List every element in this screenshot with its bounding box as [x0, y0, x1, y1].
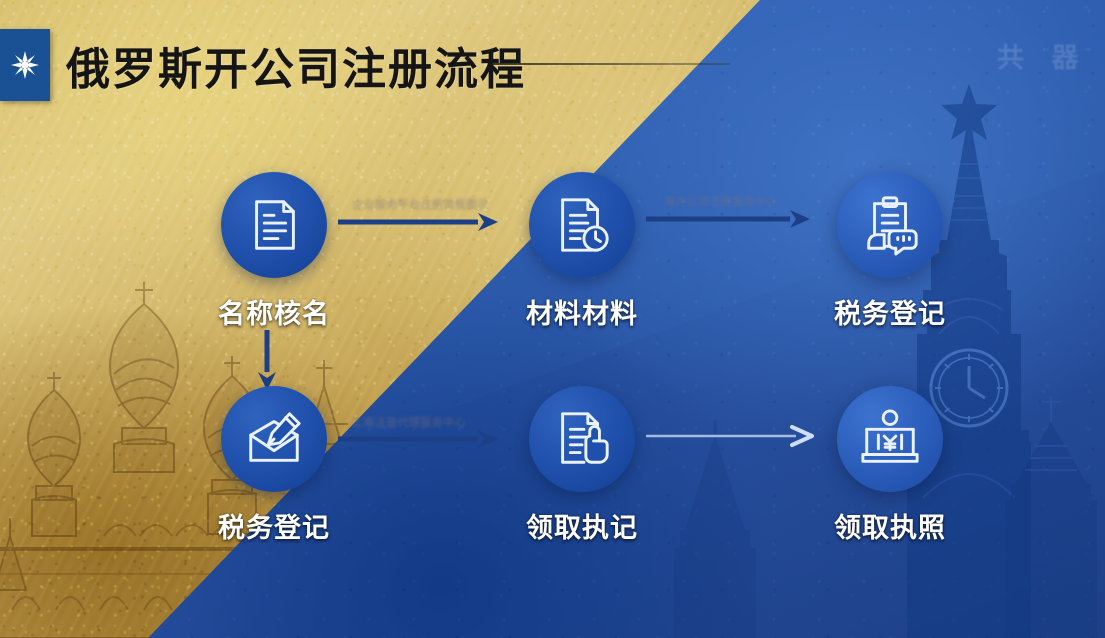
- connector-arrow-node4-node5: [338, 428, 500, 450]
- connector-arrow-node2-node3: [646, 208, 812, 230]
- clipboard-chat-icon: [859, 194, 921, 256]
- flow-node-5-label: 领取执记: [494, 506, 670, 545]
- page-title: 俄罗斯开公司注册流程: [66, 33, 526, 97]
- flow-node-3[interactable]: 税务登记: [802, 172, 978, 331]
- flow-node-4-label: 税务登记: [186, 506, 362, 545]
- flow-node-5[interactable]: 领取执记: [494, 386, 670, 545]
- connector-arrow-node5-node6: [646, 425, 818, 447]
- flow-node-6[interactable]: 领取执照: [802, 386, 978, 545]
- title-rule: [492, 63, 730, 65]
- flow-node-6-label: 领取执照: [802, 506, 978, 545]
- ghost-watermark-text: 共 器 程 者: [997, 36, 1105, 75]
- document-clock-icon: [551, 194, 613, 256]
- flow-node-4[interactable]: 税务登记: [186, 386, 362, 545]
- flow-node-3-label: 税务登记: [802, 292, 978, 331]
- flow-node-1-circle[interactable]: [221, 172, 327, 278]
- flow-node-4-circle[interactable]: [221, 386, 327, 492]
- flow-node-6-circle[interactable]: [837, 386, 943, 492]
- connector-arrow-node1-node4: [256, 330, 278, 392]
- connector-arrow-node1-node2: [338, 211, 500, 233]
- flow-node-5-circle[interactable]: [529, 386, 635, 492]
- watermark-text-1: 企业服务平台注册流程图示: [352, 196, 489, 212]
- document-lines-icon: [243, 194, 305, 256]
- envelope-pen-icon: [243, 408, 305, 470]
- flow-node-2[interactable]: 材料材料: [494, 172, 670, 331]
- flow-node-1[interactable]: 名称核名: [186, 172, 362, 331]
- flow-node-1-label: 名称核名: [186, 292, 362, 331]
- bank-yuan-icon: [859, 408, 921, 470]
- kremlin-side-tower-silhouette: [991, 378, 1105, 638]
- watermark-text-2: 海外公司注册服务中心: [664, 193, 778, 209]
- flow-node-2-circle[interactable]: [529, 172, 635, 278]
- document-hand-icon: [551, 408, 613, 470]
- flow-node-3-circle[interactable]: [837, 172, 943, 278]
- flow-node-2-label: 材料材料: [494, 292, 670, 331]
- infographic-canvas: 共 器 程 者 俄罗斯开公司注册流程 企业服务平台注册流程图示 海外公司注册服务…: [0, 0, 1105, 638]
- asterisk-star-icon: [0, 29, 50, 101]
